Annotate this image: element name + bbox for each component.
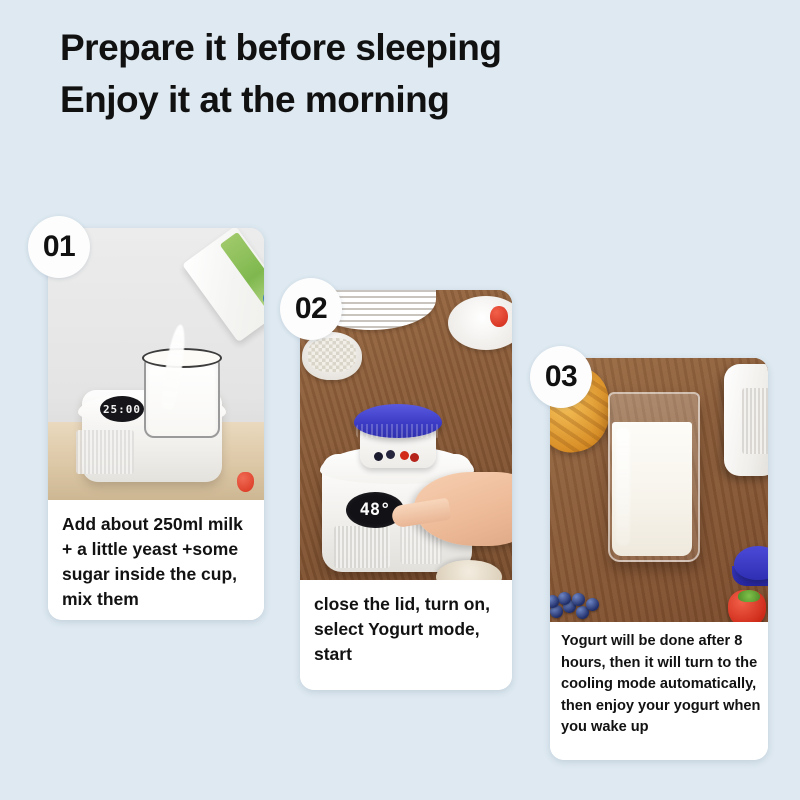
blueberry (558, 592, 571, 605)
checkered-cloth (308, 338, 356, 372)
step-02-caption-text: close the lid, turn on, select Yogurt mo… (314, 592, 502, 667)
step-02-photo: 48° (300, 290, 512, 580)
vent-grill-icon (742, 388, 768, 454)
fruit-cluster (372, 450, 420, 462)
step-badge-01: 01 (28, 216, 90, 278)
blackberry (374, 452, 383, 461)
headline-line-2: Enjoy it at the morning (60, 74, 760, 126)
vent-grill-icon (334, 526, 390, 568)
glass-highlight (616, 428, 630, 546)
blackberry (386, 450, 395, 459)
step-card-02[interactable]: 48° close the lid, turn on, select Yogur… (300, 290, 512, 690)
strawberry-leaf (738, 590, 760, 602)
step-badge-01-label: 01 (43, 230, 75, 264)
vent-grill-icon (76, 430, 134, 474)
step-01-caption-text: Add about 250ml milk + a little yeast +s… (62, 512, 254, 612)
strawberry (490, 306, 508, 327)
clear-cup (144, 358, 220, 438)
step-02-caption: close the lid, turn on, select Yogurt mo… (300, 580, 512, 690)
infographic-stage: Prepare it before sleeping Enjoy it at t… (0, 0, 800, 800)
display-panel: 25:00 (100, 396, 144, 422)
blue-lid-texture (356, 424, 440, 438)
step-badge-02: 02 (280, 278, 342, 340)
strawberry-bit (400, 451, 409, 460)
blueberry (586, 598, 599, 611)
step-badge-02-label: 02 (295, 292, 327, 326)
page-title: Prepare it before sleeping Enjoy it at t… (60, 22, 760, 126)
blueberry (572, 593, 585, 606)
blueberries (550, 582, 620, 622)
step-03-caption: Yogurt will be done after 8 hours, then … (550, 622, 768, 760)
step-01-caption: Add about 250ml milk + a little yeast +s… (48, 500, 264, 620)
headline-line-1: Prepare it before sleeping (60, 22, 760, 74)
step-badge-03-label: 03 (545, 360, 577, 394)
display-value: 25:00 (100, 396, 144, 422)
strawberry (237, 472, 254, 492)
step-card-01[interactable]: 25:00 Add about 250ml milk + a little ye… (48, 228, 264, 620)
step-card-03[interactable]: Yogurt will be done after 8 hours, then … (550, 358, 768, 760)
step-03-caption-text: Yogurt will be done after 8 hours, then … (561, 631, 761, 739)
step-badge-03: 03 (530, 346, 592, 408)
strawberry-bit (410, 453, 419, 462)
